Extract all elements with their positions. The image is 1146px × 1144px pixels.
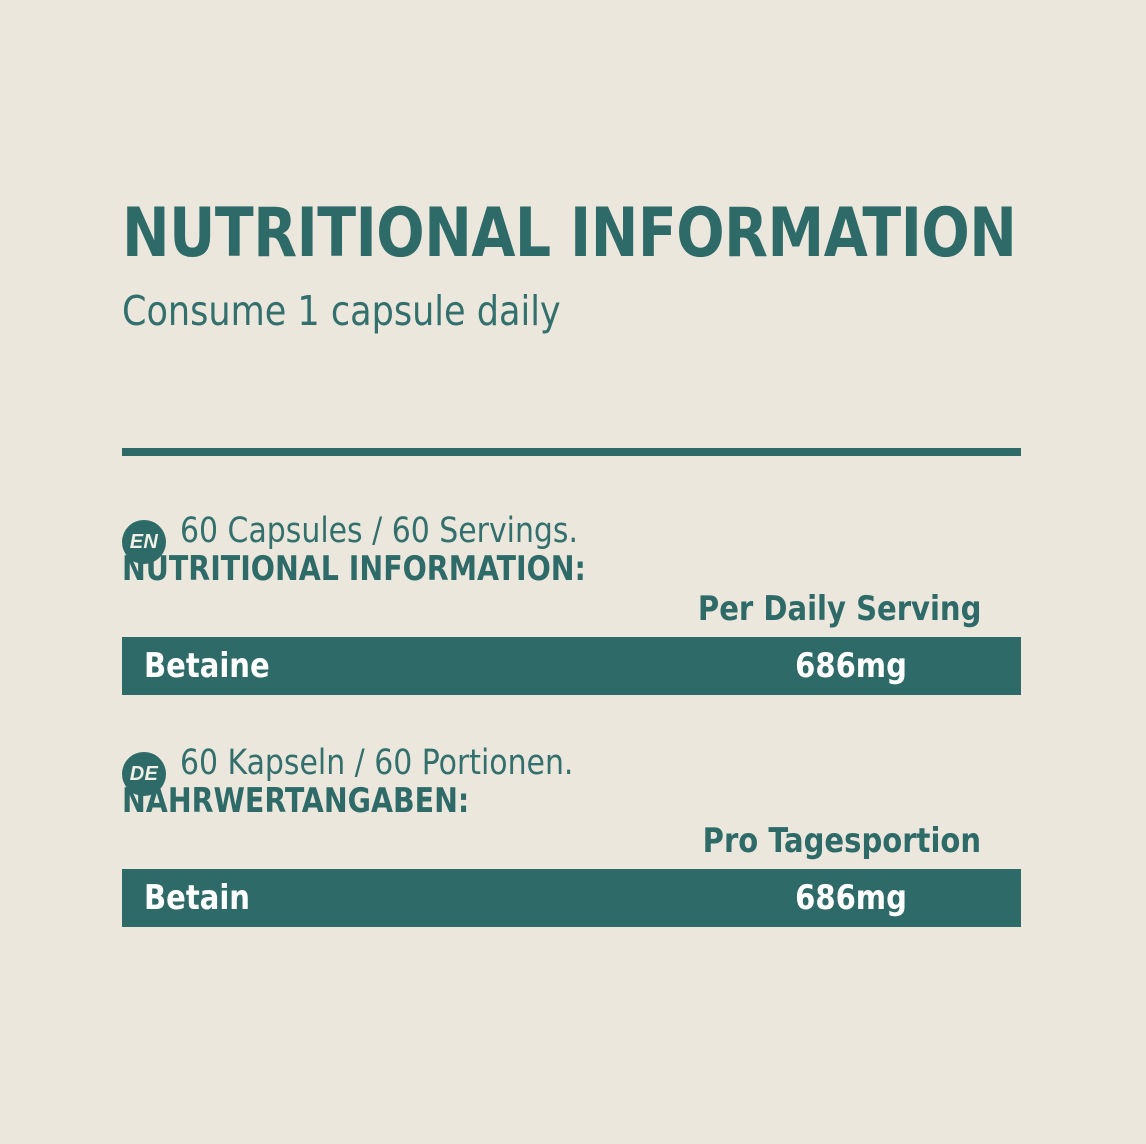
language-section-en: EN 60 Capsules / 60 Servings. NUTRITIONA… [122, 512, 1021, 695]
dosage-subtitle: Consume 1 capsule daily [122, 286, 977, 336]
serving-count-de: 60 Kapseln / 60 Portionen. [180, 744, 979, 782]
nutritional-information-label: NUTRITIONAL INFORMATION Consume 1 capsul… [0, 0, 1146, 1144]
section-header-de: DE 60 Kapseln / 60 Portionen. NÄHRWERTAN… [122, 744, 1021, 819]
nutrient-row-de: Betain 686mg [122, 869, 1021, 927]
language-section-de: DE 60 Kapseln / 60 Portionen. NÄHRWERTAN… [122, 744, 1021, 927]
column-heading-row-de: Pro Tagesportion [122, 821, 1021, 861]
nutrient-value-en: 686mg [690, 647, 1013, 685]
nutrient-name-de: Betain [144, 879, 250, 917]
nutrient-value-de: 686mg [690, 879, 1013, 917]
serving-count-en: 60 Capsules / 60 Servings. [180, 512, 979, 550]
header-block: NUTRITIONAL INFORMATION Consume 1 capsul… [122, 196, 1022, 336]
column-heading-de: Pro Tagesportion [703, 821, 981, 861]
column-heading-row-en: Per Daily Serving [122, 589, 1021, 629]
section-caption-en: NUTRITIONAL INFORMATION: [122, 551, 958, 587]
nutrient-row-en: Betaine 686mg [122, 637, 1021, 695]
nutrient-name-en: Betaine [144, 647, 270, 685]
column-heading-en: Per Daily Serving [697, 589, 981, 629]
header-divider [122, 448, 1021, 456]
page-title: NUTRITIONAL INFORMATION [122, 196, 959, 272]
section-header-en: EN 60 Capsules / 60 Servings. NUTRITIONA… [122, 512, 1021, 587]
section-caption-de: NÄHRWERTANGABEN: [122, 783, 958, 819]
